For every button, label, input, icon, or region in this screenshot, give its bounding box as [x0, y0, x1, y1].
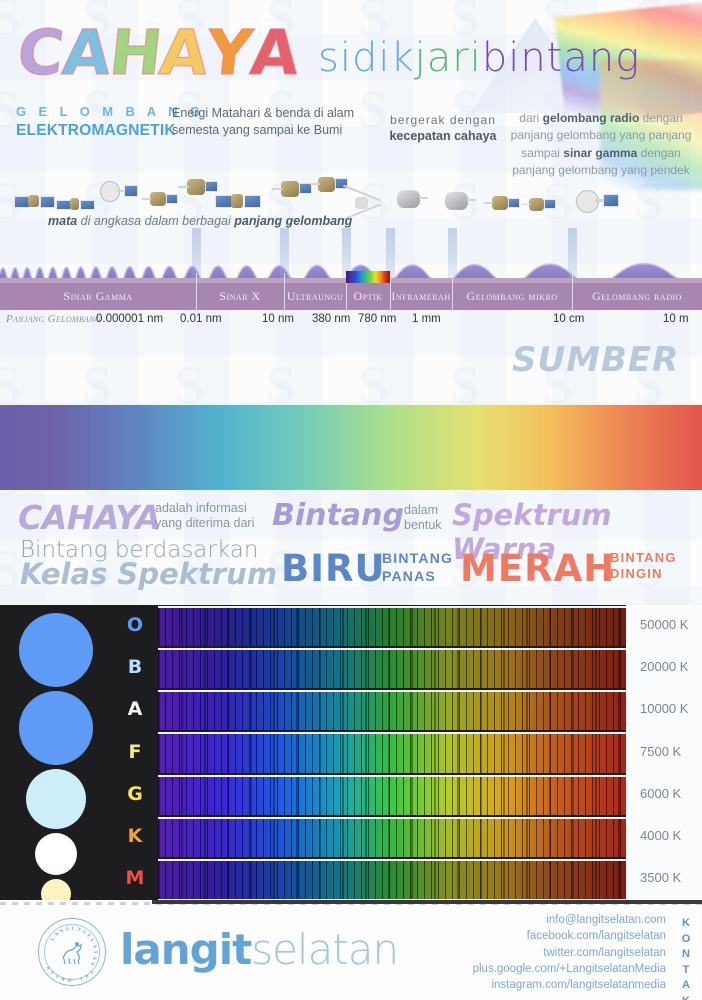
- panas-line-2: PANAS: [382, 568, 436, 584]
- seal-top-char: N: [88, 961, 95, 967]
- visible-spectrum-banner: spektrum optik atau SPEKTRUM KASATMATA P…: [0, 405, 702, 490]
- range-d: sinar gamma: [563, 146, 637, 160]
- kontak-char: N: [678, 947, 694, 963]
- wavelength-label-1: 0.01 nm: [180, 313, 222, 325]
- temperature-M: 3500 K: [640, 870, 681, 885]
- range-a: dari: [519, 111, 542, 125]
- tagline-biru: BIRU: [281, 547, 386, 590]
- em-band-separator-6: [572, 273, 573, 310]
- spectral-class-F[interactable]: F: [112, 741, 158, 763]
- spectrum-strip-B[interactable]: [158, 648, 626, 688]
- range-b: gelombang radio: [543, 111, 640, 125]
- satellite-icon-2: [98, 176, 137, 210]
- em-band-separator-1: [196, 273, 197, 310]
- kontak-char: T: [678, 963, 694, 979]
- em-band-separator-4: [390, 273, 391, 310]
- caption-bold-1: mata: [48, 214, 77, 228]
- langitselatan-seal-logo: LANGITSELATANASTRO 101: [38, 918, 106, 986]
- em-band-bar: Sinar GammaSinar XUltraunguOptikInframer…: [0, 283, 702, 310]
- caption-plain: di angkasa dalam berbagai: [77, 214, 234, 228]
- wordmark-bold: langit: [120, 925, 251, 974]
- tagline-merah: MERAH: [460, 547, 615, 590]
- wavelength-label-7: 10 m: [663, 313, 689, 325]
- tagline-block: CAHAYA adalah informasi yang diterima da…: [0, 495, 702, 595]
- seal-bottom-char: R: [60, 976, 66, 983]
- wavelength-row: Panjang Gelombang 0.000001 nm0.01 nm10 n…: [0, 313, 702, 333]
- satellite-icon-12: [520, 190, 555, 220]
- star-size-O: [19, 613, 93, 687]
- subtitle-word-1: jari: [415, 38, 482, 78]
- em-band-sinar-x[interactable]: Sinar X: [196, 283, 284, 310]
- satellite-icon-9: [388, 182, 429, 218]
- dalam-line-2: bentuk: [404, 518, 442, 532]
- seal-bottom-char: T: [54, 973, 60, 980]
- tagline-bintang: Bintang: [272, 498, 404, 533]
- temperature-A: 10000 K: [640, 701, 688, 716]
- spectrum-strip-A[interactable]: [158, 690, 626, 730]
- seal-top-char: T: [92, 950, 98, 954]
- seal-bottom-char: 0: [85, 973, 90, 979]
- dingin-line-1: BINTANG: [610, 550, 677, 565]
- footer-solid-rule: [152, 900, 702, 904]
- satellite-icon-3: [140, 184, 177, 216]
- satellite-caption: mata di angkasa dalam berbagai panjang g…: [48, 214, 352, 228]
- star-size-B: [19, 691, 93, 765]
- satellite-icon-11: [482, 188, 519, 220]
- em-band-ultraungu[interactable]: Ultraungu: [284, 283, 346, 310]
- temperature-F: 7500 K: [640, 744, 681, 759]
- star-size-A: [26, 769, 86, 829]
- satellite-icon-13: [574, 184, 618, 222]
- satellite-icon-6: [270, 172, 311, 208]
- langitselatan-wordmark: langitselatan: [120, 925, 398, 974]
- optical-rainbow-strip: [346, 271, 390, 283]
- kontak-char: O: [678, 932, 694, 948]
- em-band-optik[interactable]: Optik: [346, 283, 390, 310]
- seal-top-char: G: [65, 926, 70, 933]
- seal-top-char: L: [89, 938, 96, 944]
- title-letter-0: C: [15, 22, 66, 84]
- dalam-line-1: dalam: [404, 503, 438, 517]
- title-letter-2: H: [106, 22, 163, 84]
- contact-list: info@langitselatan.comfacebook.com/langi…: [473, 912, 666, 994]
- infographic-page: SSSSSSSSSSSSSSSSSSSSSSSSSSSSSSSSSSSSSSSS…: [0, 0, 702, 1000]
- wavelength-label-6: 10 cm: [553, 313, 584, 325]
- em-band-gelombang-radio[interactable]: Gelombang radio: [572, 283, 702, 310]
- seal-bottom-char: O: [67, 978, 72, 985]
- panas-line-1: BINTANG: [382, 550, 453, 566]
- contact-line-0[interactable]: info@langitselatan.com: [473, 912, 666, 928]
- speed-bold: kecepatan cahaya: [389, 129, 496, 143]
- em-band-separator-2: [284, 273, 285, 310]
- temperature-K: 4000 K: [640, 828, 681, 843]
- temperature-O: 50000 K: [640, 617, 688, 632]
- page-subtitle: sidik jari bintang: [318, 38, 640, 78]
- caption-bold-2: panjang gelombang: [234, 214, 352, 228]
- kontak-vertical-label: KONTAK: [678, 916, 694, 1000]
- wavelength-label-4: 780 nm: [358, 313, 396, 325]
- star-size-column: [0, 605, 112, 900]
- spectral-class-O[interactable]: O: [112, 614, 158, 636]
- em-band-separator-5: [452, 273, 453, 310]
- spectrum-strip-F[interactable]: [158, 732, 626, 772]
- title-letter-4: Y: [204, 22, 254, 84]
- contact-line-2[interactable]: twitter.com/langitselatan: [473, 945, 666, 961]
- wavelength-label-2: 10 nm: [262, 313, 294, 325]
- seal-top-char: A: [91, 956, 98, 961]
- stellar-spectra-chart: OBAFGKM 50000 K20000 K10000 K7500 K6000 …: [0, 605, 702, 900]
- seal-bottom-char: 1: [79, 976, 83, 982]
- adalah-line-1: adalah informasi: [155, 501, 247, 515]
- spectrum-strip-K[interactable]: [158, 817, 626, 857]
- wavelength-label-0: 0.000001 nm: [96, 313, 163, 325]
- seal-top-char: I: [71, 926, 73, 932]
- star-size-F: [35, 833, 77, 875]
- intro-text-speed: bergerak dengan kecepatan cahaya: [383, 112, 503, 145]
- satellite-icon-10: [436, 184, 477, 220]
- title-letter-3: A: [157, 22, 211, 84]
- em-band-inframerah[interactable]: Inframerah: [390, 283, 452, 310]
- tagline-bintang-panas: BINTANG PANAS: [382, 550, 453, 585]
- wavelength-caption: Panjang Gelombang: [6, 313, 101, 325]
- seal-top-char: T: [77, 927, 82, 934]
- spectral-class-G[interactable]: G: [112, 783, 158, 805]
- spectrum-strip-M[interactable]: [158, 859, 626, 901]
- contact-line-1[interactable]: facebook.com/langitselatan: [473, 928, 666, 944]
- kontak-char: K: [678, 916, 694, 932]
- title-letter-1: A: [59, 22, 113, 84]
- seal-centaur-icon: [57, 937, 87, 967]
- adalah-line-2: yang diterima dari: [155, 516, 254, 530]
- wavelength-label-3: 380 nm: [312, 313, 350, 325]
- title-letter-5: A: [248, 22, 302, 84]
- spectral-class-column: OBAFGKM: [112, 605, 158, 900]
- spectral-class-K[interactable]: K: [112, 825, 158, 847]
- page-title: CAHAYA: [18, 22, 298, 84]
- spectral-class-M[interactable]: M: [112, 867, 158, 889]
- tagline-adalah: adalah informasi yang diterima dari: [155, 501, 254, 531]
- seal-bottom-char: 1: [89, 970, 95, 976]
- temperature-B: 20000 K: [640, 659, 688, 674]
- em-band-sinar-gamma[interactable]: Sinar Gamma: [0, 283, 196, 310]
- tagline-cahaya: CAHAYA: [18, 498, 160, 537]
- dingin-line-2: DINGIN: [610, 566, 663, 581]
- tagline-bintang-dingin: BINTANG DINGIN: [610, 550, 677, 583]
- source-icon-row: [0, 330, 702, 402]
- wordmark-light: selatan: [251, 925, 398, 974]
- spectrum-strip-G[interactable]: [158, 775, 626, 815]
- intro-text-energy: Energi Matahari & benda di alam semesta …: [172, 105, 372, 139]
- temperature-G: 6000 K: [640, 786, 681, 801]
- contact-line-4[interactable]: instagram.com/langitselatanmedia: [473, 977, 666, 993]
- tagline-dalam-bentuk: dalam bentuk: [404, 503, 442, 533]
- kontak-char: A: [678, 978, 694, 994]
- header: CAHAYA sidik jari bintang G E L O M B A …: [0, 0, 702, 180]
- kontak-char: K: [678, 994, 694, 1000]
- satellite-icon-4: [176, 170, 217, 206]
- subtitle-word-2: bintang: [482, 38, 640, 78]
- wavelength-label-5: 1 mm: [412, 313, 441, 325]
- seal-top-char: L: [49, 936, 56, 942]
- em-band-gelombang-mikro[interactable]: Gelombang mikro: [452, 283, 572, 310]
- spectral-class-B[interactable]: B: [112, 656, 158, 678]
- subtitle-word-0: sidik: [318, 38, 415, 78]
- seal-top-char: S: [81, 929, 86, 936]
- seal-top-char: A: [91, 944, 98, 949]
- spectral-class-A[interactable]: A: [112, 698, 158, 720]
- speed-plain: bergerak dengan: [390, 113, 496, 127]
- tagline-kelas-spektrum: Kelas Spektrum: [20, 557, 277, 591]
- seal-bottom-char: S: [49, 970, 55, 976]
- contact-line-3[interactable]: plus.google.com/+LangitselatanMedia: [473, 961, 666, 977]
- spectrum-strip-O[interactable]: [158, 606, 626, 646]
- kicker-line-2: ELEKTROMAGNETIK: [16, 121, 176, 142]
